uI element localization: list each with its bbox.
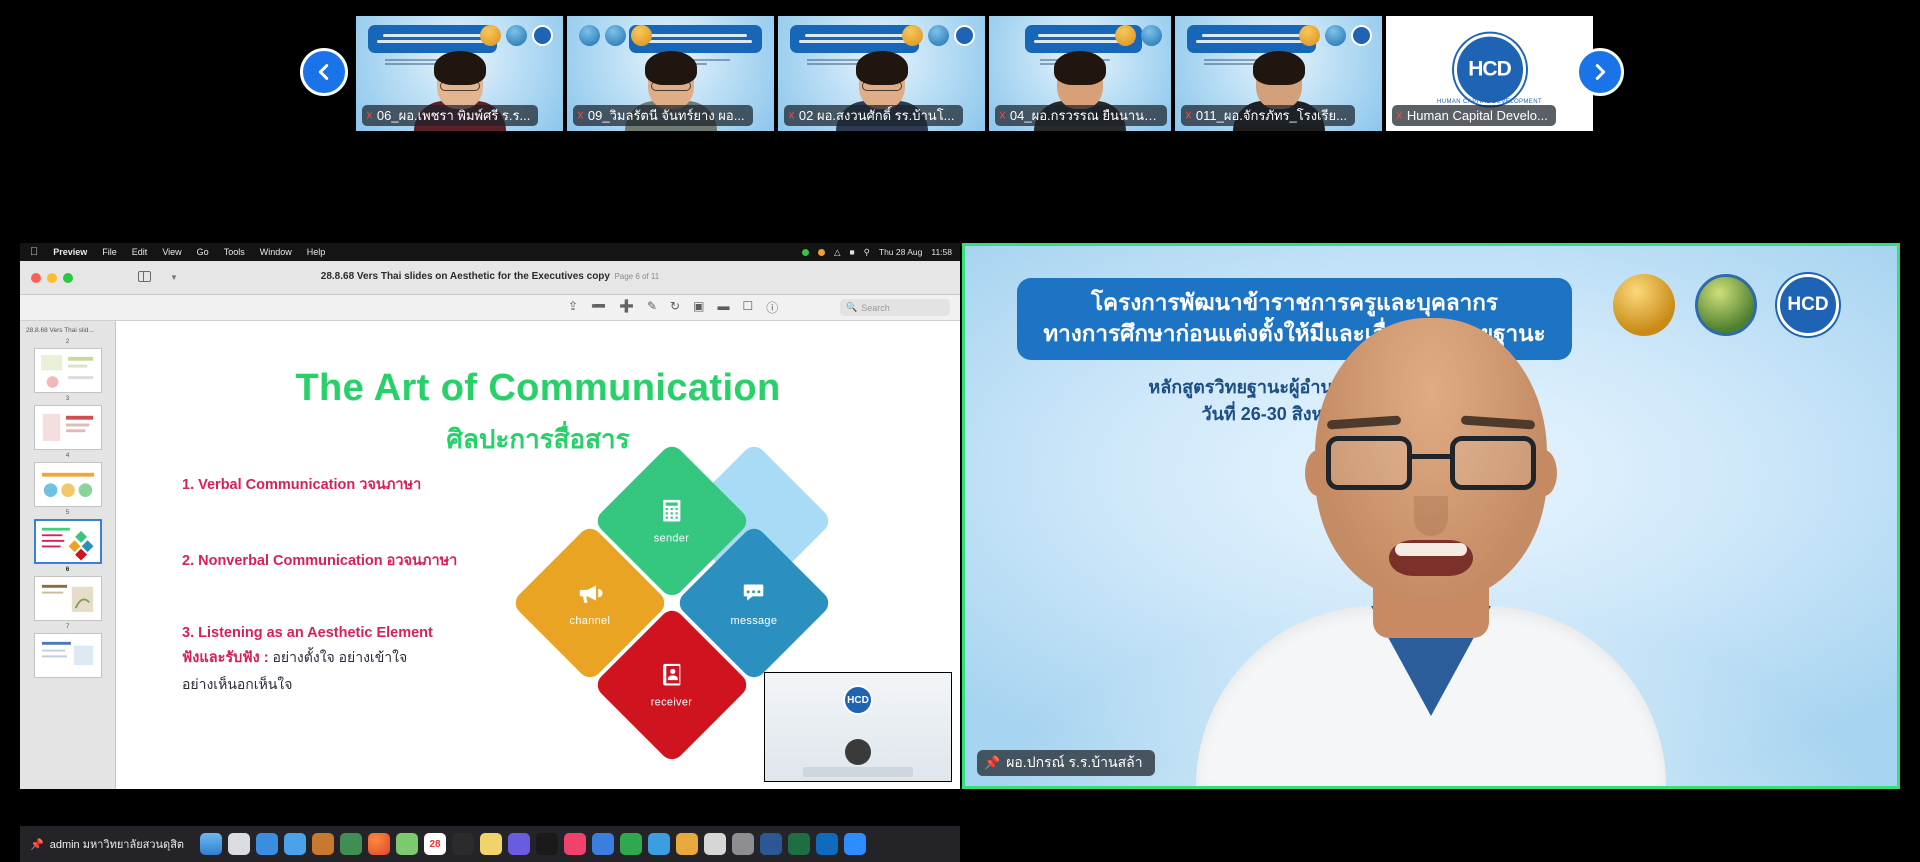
tile-seals <box>1115 25 1162 46</box>
search-icon[interactable]: ⚲ <box>864 247 870 258</box>
minimize-button[interactable] <box>47 273 57 283</box>
sidebar-thumb-3[interactable] <box>34 405 102 450</box>
thumb-number: 7 <box>20 623 115 630</box>
diagram-node-label: receiver <box>651 697 693 709</box>
participant-name-text: Human Capital Develo... <box>1407 108 1548 123</box>
glasses-icon <box>1324 436 1538 494</box>
royal-seal-gold-icon <box>631 25 652 46</box>
glasses-lens-left <box>1326 436 1412 490</box>
glasses-icon <box>862 81 902 91</box>
thumb-number: 2 <box>20 338 115 345</box>
tile-banner <box>368 25 496 53</box>
info-icon[interactable]: ⓘ <box>766 299 778 316</box>
mic-muted-icon: ☓ <box>577 109 584 122</box>
participant-name-text: 09_วิมลรัตนี จันทร์ยาง ผอ... <box>588 105 745 126</box>
crop-icon[interactable]: ☐ <box>742 299 753 316</box>
slide-bullet-3: 3. Listening as an Aesthetic Element <box>182 625 512 641</box>
dock-app-keynote[interactable] <box>648 833 670 855</box>
zoom-meeting-window: ☓ 06_ผอ.เพชรา พิมพ์ศรี ร.ร... <box>0 0 1920 862</box>
institution-seal-icon <box>1141 25 1162 46</box>
dock-app-numbers[interactable] <box>620 833 642 855</box>
dock-app-settings[interactable] <box>732 833 754 855</box>
slide-thai-line-1: ฟังและรับฟัง : อย่างตั้งใจ อย่างเข้าใจ <box>182 646 512 669</box>
document-title: 28.8.68 Vers Thai slides on Aesthetic fo… <box>321 271 610 282</box>
menu-item-go[interactable]: Go <box>197 247 209 257</box>
toolbar-icon-group: ⇪ ➖ ➕ ✎ ↻ ▣ ▬ ☐ ⓘ <box>568 299 778 316</box>
dock-app-finder[interactable] <box>200 833 222 855</box>
dock-app-outlook[interactable] <box>816 833 838 855</box>
dock-app-mail[interactable] <box>284 833 306 855</box>
slide-thai-text-1: อย่างตั้งใจ อย่างเข้าใจ <box>269 649 408 665</box>
search-placeholder: Search <box>861 303 890 313</box>
participant-name-label: ☓ Human Capital Develo... <box>1392 105 1556 126</box>
institution-seal-icon <box>579 25 600 46</box>
chevron-left-icon <box>313 61 335 83</box>
slide-bullet-list: 1. Verbal Communication วจนภาษา 2. Nonve… <box>182 473 512 696</box>
mic-muted-icon: ☓ <box>999 109 1006 122</box>
menu-item-preview[interactable]: Preview <box>53 247 87 257</box>
mic-muted-icon: ☓ <box>1396 109 1403 122</box>
banner-line-1: โครงการพัฒนาข้าราชการครูและบุคลากร <box>1091 288 1498 319</box>
highlight-icon[interactable]: ▬ <box>717 299 729 316</box>
mic-muted-icon: ☓ <box>366 109 373 122</box>
diagram-node-label: message <box>731 614 778 626</box>
page-indicator: Page 6 of 11 <box>614 272 659 281</box>
chat-bubble-icon <box>741 579 767 605</box>
diagram-node-label: channel <box>570 614 611 626</box>
glasses-icon <box>651 81 691 91</box>
mac-dock[interactable]: 📌 admin มหาวิทยาลัยสวนดุสิต 28 <box>20 826 960 862</box>
zoom-out-icon[interactable]: ➖ <box>591 299 606 316</box>
apple-icon[interactable]:  <box>30 246 38 258</box>
glasses-lens-right <box>1450 436 1536 490</box>
active-speaker-panel[interactable]: โครงการพัฒนาข้าราชการครูและบุคลากร ทางกา… <box>962 243 1900 789</box>
hcd-logo-icon: HCD <box>1454 33 1526 105</box>
wifi-icon[interactable]: △ <box>834 247 841 258</box>
speaker-eyebrow-right <box>1461 415 1535 429</box>
hcd-logo-icon: HCD <box>1777 274 1839 336</box>
document-title-block: 28.8.68 Vers Thai slides on Aesthetic fo… <box>321 265 659 285</box>
self-view-avatar <box>845 739 871 765</box>
sidebar-thumb-7[interactable] <box>34 576 102 621</box>
participant-name-text: 011_ผอ.จักรภัทร_โรงเรีย... <box>1196 105 1347 126</box>
search-input[interactable]: 🔍 Search <box>840 299 950 316</box>
recording-indicator-icon <box>802 249 809 256</box>
annotate-icon[interactable]: ▣ <box>693 299 704 316</box>
sidebar-thumb-6-selected[interactable] <box>34 519 102 564</box>
glasses-icon <box>440 81 480 91</box>
participant-tile-2[interactable]: ☓ 02 ผอ.สงวนศักดิ์ รร.บ้านโ... <box>778 16 985 131</box>
self-view-desk <box>803 767 913 777</box>
sidebar-thumb-4[interactable] <box>34 462 102 507</box>
institution-seal-icon <box>506 25 527 46</box>
slide-title: The Art of Communication <box>116 367 960 410</box>
menu-item-help[interactable]: Help <box>307 247 326 257</box>
slide-bullet-1: 1. Verbal Communication วจนภาษา <box>182 473 512 496</box>
mac-menu-bar:  Preview File Edit View Go Tools Window… <box>20 243 960 261</box>
window-controls[interactable] <box>20 273 73 283</box>
participant-tile-4[interactable]: ☓ 011_ผอ.จักรภัทร_โรงเรีย... <box>1175 16 1382 131</box>
dock-app-appstore[interactable] <box>592 833 614 855</box>
speaker-eyebrow-left <box>1327 415 1401 429</box>
dock-app-photos[interactable] <box>368 833 390 855</box>
preview-titlebar: ▼ 28.8.68 Vers Thai slides on Aesthetic … <box>20 261 960 295</box>
self-view-pip[interactable]: HCD <box>764 672 952 782</box>
thumb-number: 4 <box>20 452 115 459</box>
dock-app-zoom[interactable] <box>844 833 866 855</box>
sidebar-toggle-icon[interactable] <box>138 271 151 282</box>
tile-seals <box>902 25 975 46</box>
participant-tile-0[interactable]: ☓ 06_ผอ.เพชรา พิมพ์ศรี ร.ร... <box>356 16 563 131</box>
menu-item-window[interactable]: Window <box>260 247 292 257</box>
speaker-head <box>1315 318 1547 600</box>
royal-seal-gold-icon <box>902 25 923 46</box>
dock-app-music[interactable] <box>564 833 586 855</box>
speaker-mouth <box>1389 540 1473 576</box>
mic-muted-icon: ☓ <box>1185 109 1192 122</box>
dock-app-word[interactable] <box>760 833 782 855</box>
maximize-button[interactable] <box>63 273 73 283</box>
speaker-video-person <box>1196 316 1666 786</box>
dock-app-launchpad[interactable] <box>228 833 250 855</box>
dock-app-notes[interactable] <box>480 833 502 855</box>
dock-app-contacts[interactable] <box>312 833 334 855</box>
dock-app-preview[interactable] <box>704 833 726 855</box>
participant-name-label: ☓ 09_วิมลรัตนี จันทร์ยาง ผอ... <box>573 105 753 126</box>
hcd-logo-icon <box>532 25 553 46</box>
menu-item-tools[interactable]: Tools <box>224 247 245 257</box>
rotate-icon[interactable]: ↻ <box>670 299 680 316</box>
sidebar-thumb-2[interactable] <box>34 348 102 393</box>
sidebar-header: 28.8.68 Vers Thai slid... <box>20 325 115 338</box>
participant-name-label: ☓ 011_ผอ.จักรภัทร_โรงเรีย... <box>1181 105 1355 126</box>
tile-seals <box>1299 25 1372 46</box>
royal-seal-gold-icon <box>1115 25 1136 46</box>
slide-thai-line-2: อย่างเห็นอกเห็นใจ <box>182 674 512 696</box>
zoom-in-icon[interactable]: ➕ <box>619 299 634 316</box>
preview-thumbnail-sidebar[interactable]: 28.8.68 Vers Thai slid... 2 3 4 5 6 7 <box>20 321 116 789</box>
royal-seal-gold-icon <box>1299 25 1320 46</box>
participant-filmstrip: ☓ 06_ผอ.เพชรา พิมพ์ศรี ร.ร... <box>0 0 1920 145</box>
menu-bar-status-area: △ ■ ⚲ Thu 28 Aug 11:58 <box>802 243 952 261</box>
participant-name-label: ☓ 02 ผอ.สงวนศักดิ์ รร.บ้านโ... <box>784 105 963 126</box>
institution-seal-icon <box>605 25 626 46</box>
contact-card-icon <box>659 662 685 688</box>
dock-app-reminders[interactable] <box>452 833 474 855</box>
diagram-node-label: sender <box>654 533 689 545</box>
dock-app-facetime[interactable] <box>396 833 418 855</box>
dock-app-safari[interactable] <box>256 833 278 855</box>
tile-banner <box>1187 25 1315 53</box>
mic-muted-icon: ☓ <box>788 109 795 122</box>
dock-app-calendar[interactable]: 28 <box>424 833 446 855</box>
share-icon[interactable]: ⇪ <box>568 299 578 316</box>
close-button[interactable] <box>31 273 41 283</box>
thumb-number: 5 <box>20 509 115 516</box>
active-speaker-name-text: ผอ.ปกรณ์ ร.ร.บ้านสล้า <box>1006 752 1142 774</box>
screenshare-indicator-icon <box>818 249 825 256</box>
menu-item-view[interactable]: View <box>162 247 181 257</box>
pin-icon: 📌 <box>984 755 1000 771</box>
calculator-icon <box>659 498 685 524</box>
dock-user-label: 📌 admin มหาวิทยาลัยสวนดุสิต <box>30 835 184 853</box>
thumb-number-current: 6 <box>20 566 115 573</box>
dock-app-pages[interactable] <box>676 833 698 855</box>
dock-app-maps[interactable] <box>340 833 362 855</box>
participant-tile-5[interactable]: HCD HUMAN CAPITAL DEVELOPMENT ☓ Human Ca… <box>1386 16 1593 131</box>
preview-toolbar: ⇪ ➖ ➕ ✎ ↻ ▣ ▬ ☐ ⓘ 🔍 Search <box>20 295 960 321</box>
participant-name-label: ☓ 06_ผอ.เพชรา พิมพ์ศรี ร.ร... <box>362 105 538 126</box>
search-icon: 🔍 <box>846 302 857 313</box>
institution-seal-green-icon <box>1695 274 1757 336</box>
slide-bullet-2: 2. Nonverbal Communication อวจนภาษา <box>182 549 512 572</box>
institution-seal-icon <box>928 25 949 46</box>
institution-seal-icon <box>1325 25 1346 46</box>
clock-date[interactable]: Thu 28 Aug <box>879 247 922 257</box>
royal-seal-gold-icon <box>480 25 501 46</box>
glasses-bridge <box>1412 454 1450 459</box>
pin-icon: 📌 <box>30 838 44 851</box>
participant-tile-3[interactable]: ☓ 04_ผอ.กรวรรณ ยืนนาน_... <box>989 16 1171 131</box>
filmstrip-prev-button[interactable] <box>300 48 348 96</box>
chevron-down-icon[interactable]: ▼ <box>170 273 178 282</box>
speaker-teeth <box>1395 543 1467 556</box>
slide-thai-heading: ฟังและรับฟัง : <box>182 650 269 666</box>
hcd-logo-icon <box>954 25 975 46</box>
dock-app-tv[interactable] <box>536 833 558 855</box>
dock-app-podcasts[interactable] <box>508 833 530 855</box>
participant-name-label: ☓ 04_ผอ.กรวรรณ ยืนนาน_... <box>995 105 1167 126</box>
megaphone-icon <box>577 579 603 605</box>
thumb-number: 3 <box>20 395 115 402</box>
dock-app-excel[interactable] <box>788 833 810 855</box>
battery-icon[interactable]: ■ <box>850 247 855 257</box>
menu-item-file[interactable]: File <box>102 247 117 257</box>
markup-icon[interactable]: ✎ <box>647 299 657 316</box>
participant-tile-1[interactable]: ☓ 09_วิมลรัตนี จันทร์ยาง ผอ... <box>567 16 774 131</box>
clock-time[interactable]: 11:58 <box>931 247 952 257</box>
tile-seals <box>579 25 652 46</box>
menu-item-edit[interactable]: Edit <box>132 247 148 257</box>
participant-name-text: 04_ผอ.กรวรรณ ยืนนาน_... <box>1010 105 1159 126</box>
hcd-logo-icon: HCD <box>843 685 873 715</box>
participant-name-text: 06_ผอ.เพชรา พิมพ์ศรี ร.ร... <box>377 105 530 126</box>
sidebar-thumb-8[interactable] <box>34 633 102 678</box>
tile-banner <box>790 25 918 53</box>
speaker-nose <box>1414 496 1448 536</box>
participant-thumbnails: ☓ 06_ผอ.เพชรา พิมพ์ศรี ร.ร... <box>356 16 1593 131</box>
dock-user-text: admin มหาวิทยาลัยสวนดุสิต <box>50 835 184 853</box>
participant-name-text: 02 ผอ.สงวนศักดิ์ รร.บ้านโ... <box>799 105 955 126</box>
active-speaker-name-label: 📌 ผอ.ปกรณ์ ร.ร.บ้านสล้า <box>977 750 1155 776</box>
hcd-logo-icon <box>1351 25 1372 46</box>
chevron-right-icon <box>1589 61 1611 83</box>
filmstrip-next-button[interactable] <box>1576 48 1624 96</box>
tile-seals <box>480 25 553 46</box>
